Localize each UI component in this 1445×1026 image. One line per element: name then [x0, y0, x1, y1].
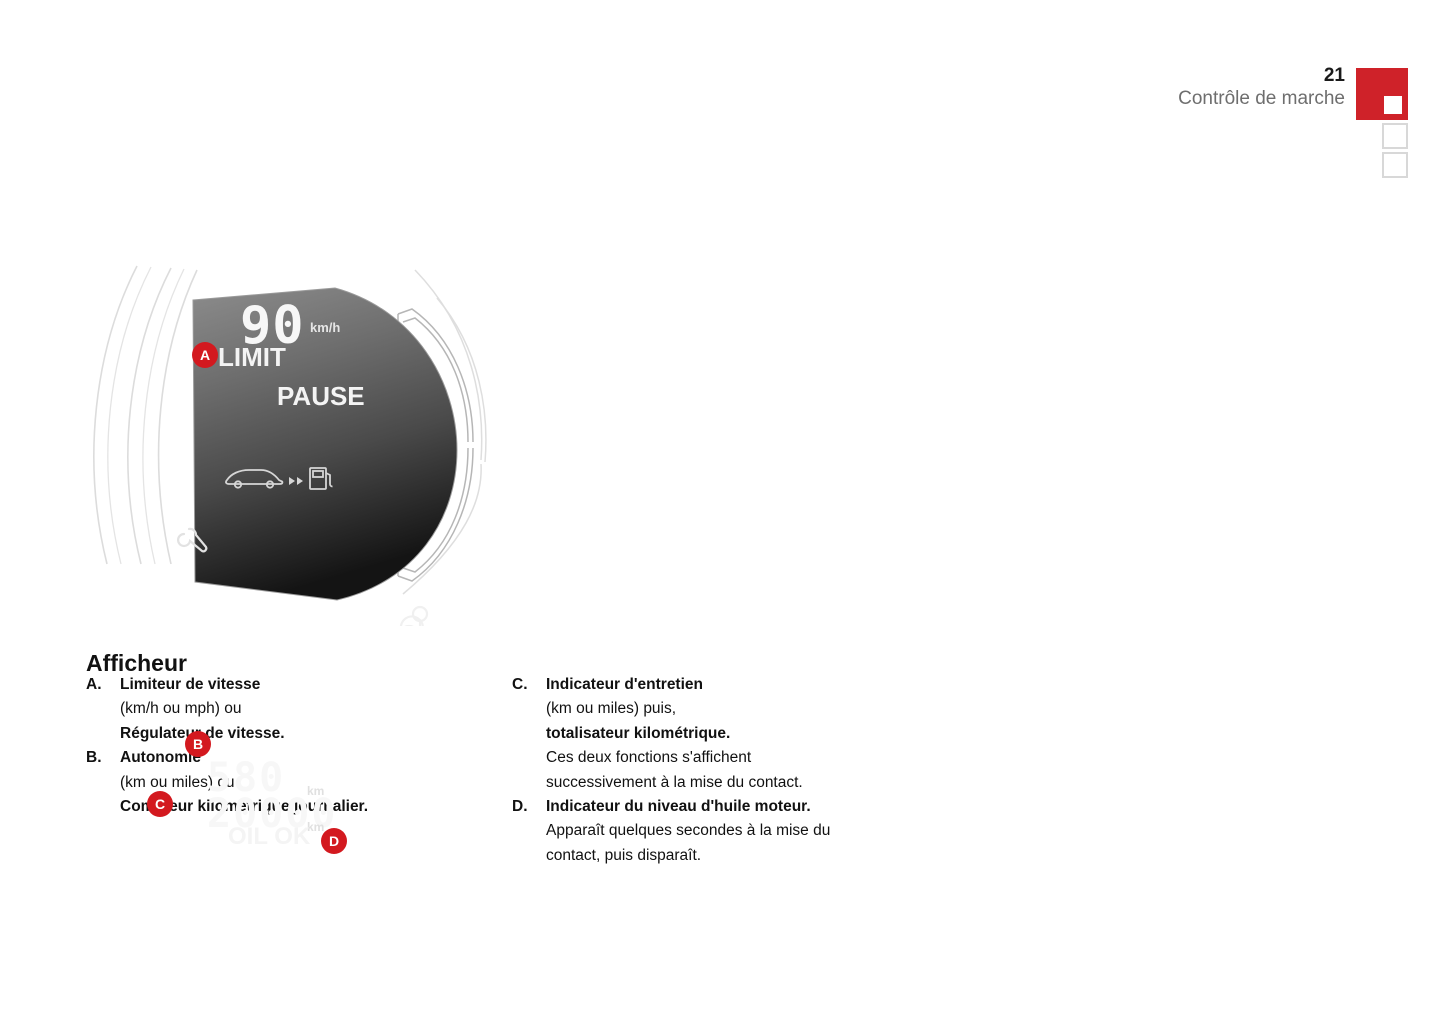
legend-column-right: C.Indicateur d'entretien(km ou miles) pu… — [512, 673, 932, 868]
legend-item-line: Autonomie — [120, 746, 486, 770]
limit-label: LIMIT — [218, 342, 286, 373]
legend-item-letter: C. — [512, 673, 546, 795]
speed-unit-label: km/h — [310, 320, 340, 335]
legend-item-line: (km ou miles) puis, — [546, 697, 932, 721]
legend-item-line: Ces deux fonctions s'affichent — [546, 746, 932, 770]
legend-item-line: contact, puis disparaît. — [546, 844, 932, 868]
legend-item-line: (km/h ou mph) ou — [120, 697, 486, 721]
chapter-tab-inner-square-icon — [1384, 96, 1402, 114]
pause-label: PAUSE — [277, 381, 365, 412]
legend-item-letter: D. — [512, 795, 546, 868]
legend-item-line: Indicateur d'entretien — [546, 673, 932, 697]
legend-item-lines: Indicateur d'entretien(km ou miles) puis… — [546, 673, 932, 795]
legend-item-line: Limiteur de vitesse — [120, 673, 486, 697]
section-title: Contrôle de marche — [1178, 89, 1345, 108]
legend-item: D.Indicateur du niveau d'huile moteur.Ap… — [512, 795, 932, 868]
callout-marker-a: A — [192, 342, 218, 368]
header-text-block: 21 Contrôle de marche — [1178, 66, 1345, 108]
legend-item: C.Indicateur d'entretien(km ou miles) pu… — [512, 673, 932, 795]
legend-item-letter: B. — [86, 746, 120, 819]
chapter-tab-outline-icon-2 — [1382, 152, 1408, 178]
legend-item-lines: Limiteur de vitesse(km/h ou mph) ouRégul… — [120, 673, 486, 746]
legend-item-line: successivement à la mise du contact. — [546, 771, 932, 795]
legend-item-line: Indicateur du niveau d'huile moteur. — [546, 795, 932, 819]
oil-status-label: OIL OK — [228, 823, 310, 851]
decorative-arcs-left-faint — [108, 267, 184, 564]
legend-item-line: Apparaît quelques secondes à la mise du — [546, 819, 932, 843]
legend-item-lines: Indicateur du niveau d'huile moteur.Appa… — [546, 795, 932, 868]
page-header: 21 Contrôle de marche — [965, 66, 1445, 176]
chapter-tab-outline-icon-1 — [1382, 123, 1408, 149]
legend-item-line: totalisateur kilométrique. — [546, 722, 932, 746]
legend-item: A.Limiteur de vitesse(km/h ou mph) ouRég… — [86, 673, 486, 746]
callout-marker-c: C — [147, 791, 173, 817]
legend-item-line: Régulateur de vitesse. — [120, 722, 486, 746]
chapter-tab-filled-icon — [1356, 68, 1408, 120]
page-number: 21 — [1178, 66, 1345, 85]
callout-marker-b: B — [185, 731, 211, 757]
instrument-cluster-illustration: 90 km/h LIMIT PAUSE 580 km 20000 km OIL … — [85, 264, 497, 626]
limiter-icon-group — [399, 607, 427, 626]
header-marker-group — [1356, 68, 1412, 178]
callout-marker-d: D — [321, 828, 347, 854]
legend-item-letter: A. — [86, 673, 120, 746]
